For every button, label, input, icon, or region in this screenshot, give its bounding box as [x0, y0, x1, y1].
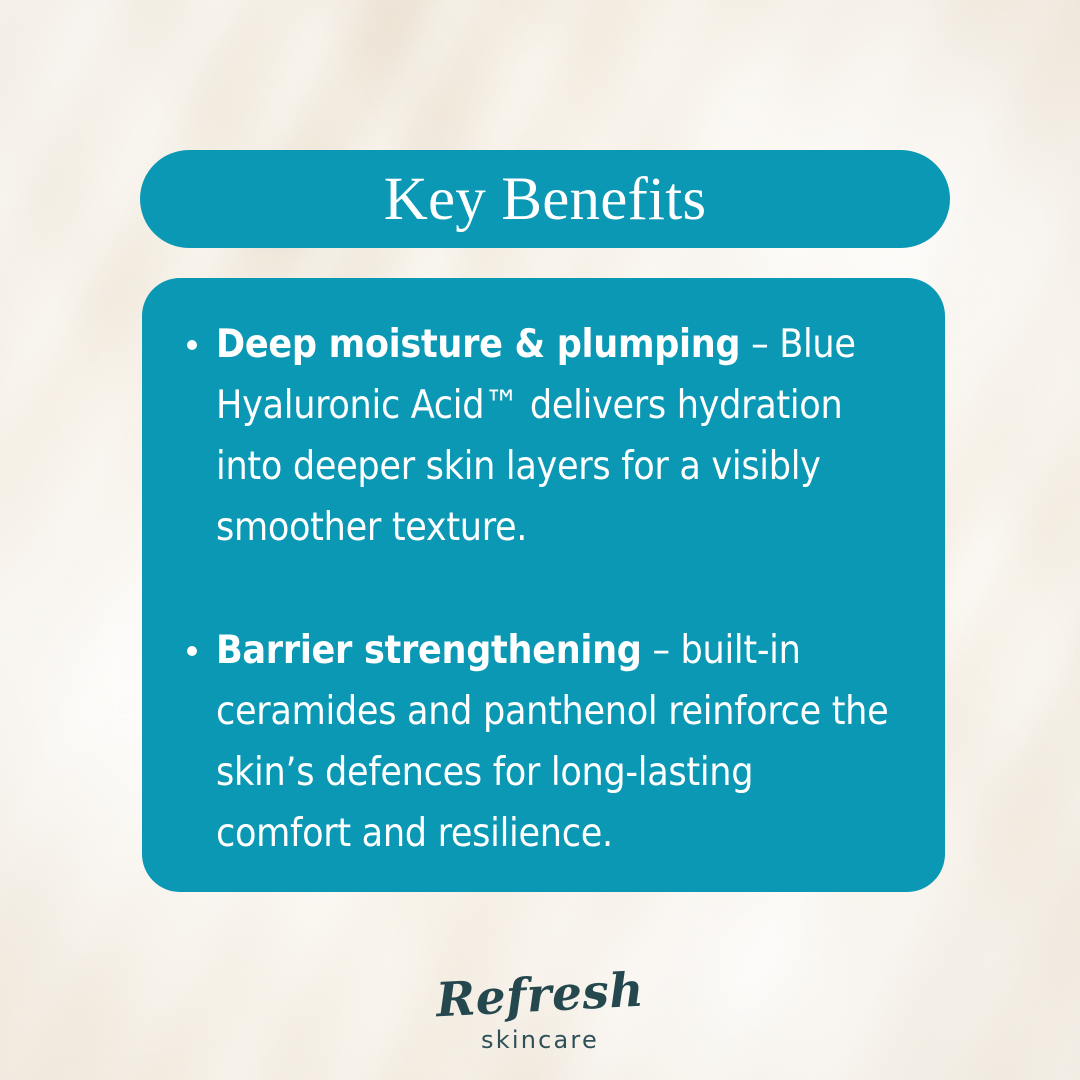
benefits-list: Deep moisture & plumping – Blue Hyaluron… — [176, 314, 893, 864]
key-benefits-card: Key Benefits Deep moisture & plumping – … — [0, 0, 1080, 1080]
benefit-lead: Deep moisture & plumping — [216, 322, 740, 367]
bullet-icon — [187, 646, 197, 656]
list-item: Barrier strengthening – built-in ceramid… — [176, 620, 893, 864]
benefits-panel: Deep moisture & plumping – Blue Hyaluron… — [142, 278, 945, 892]
bullet-icon — [187, 340, 197, 350]
benefit-separator: – — [642, 628, 681, 673]
benefit-separator: – — [740, 322, 779, 367]
title-banner: Key Benefits — [140, 150, 950, 248]
brand-name: Refresh — [435, 967, 645, 1025]
page-title: Key Benefits — [384, 169, 707, 230]
benefit-lead: Barrier strengthening — [216, 628, 642, 673]
brand-tagline: skincare — [0, 1028, 1080, 1052]
brand-logo: Refresh skincare — [0, 972, 1080, 1052]
list-item: Deep moisture & plumping – Blue Hyaluron… — [176, 314, 893, 558]
